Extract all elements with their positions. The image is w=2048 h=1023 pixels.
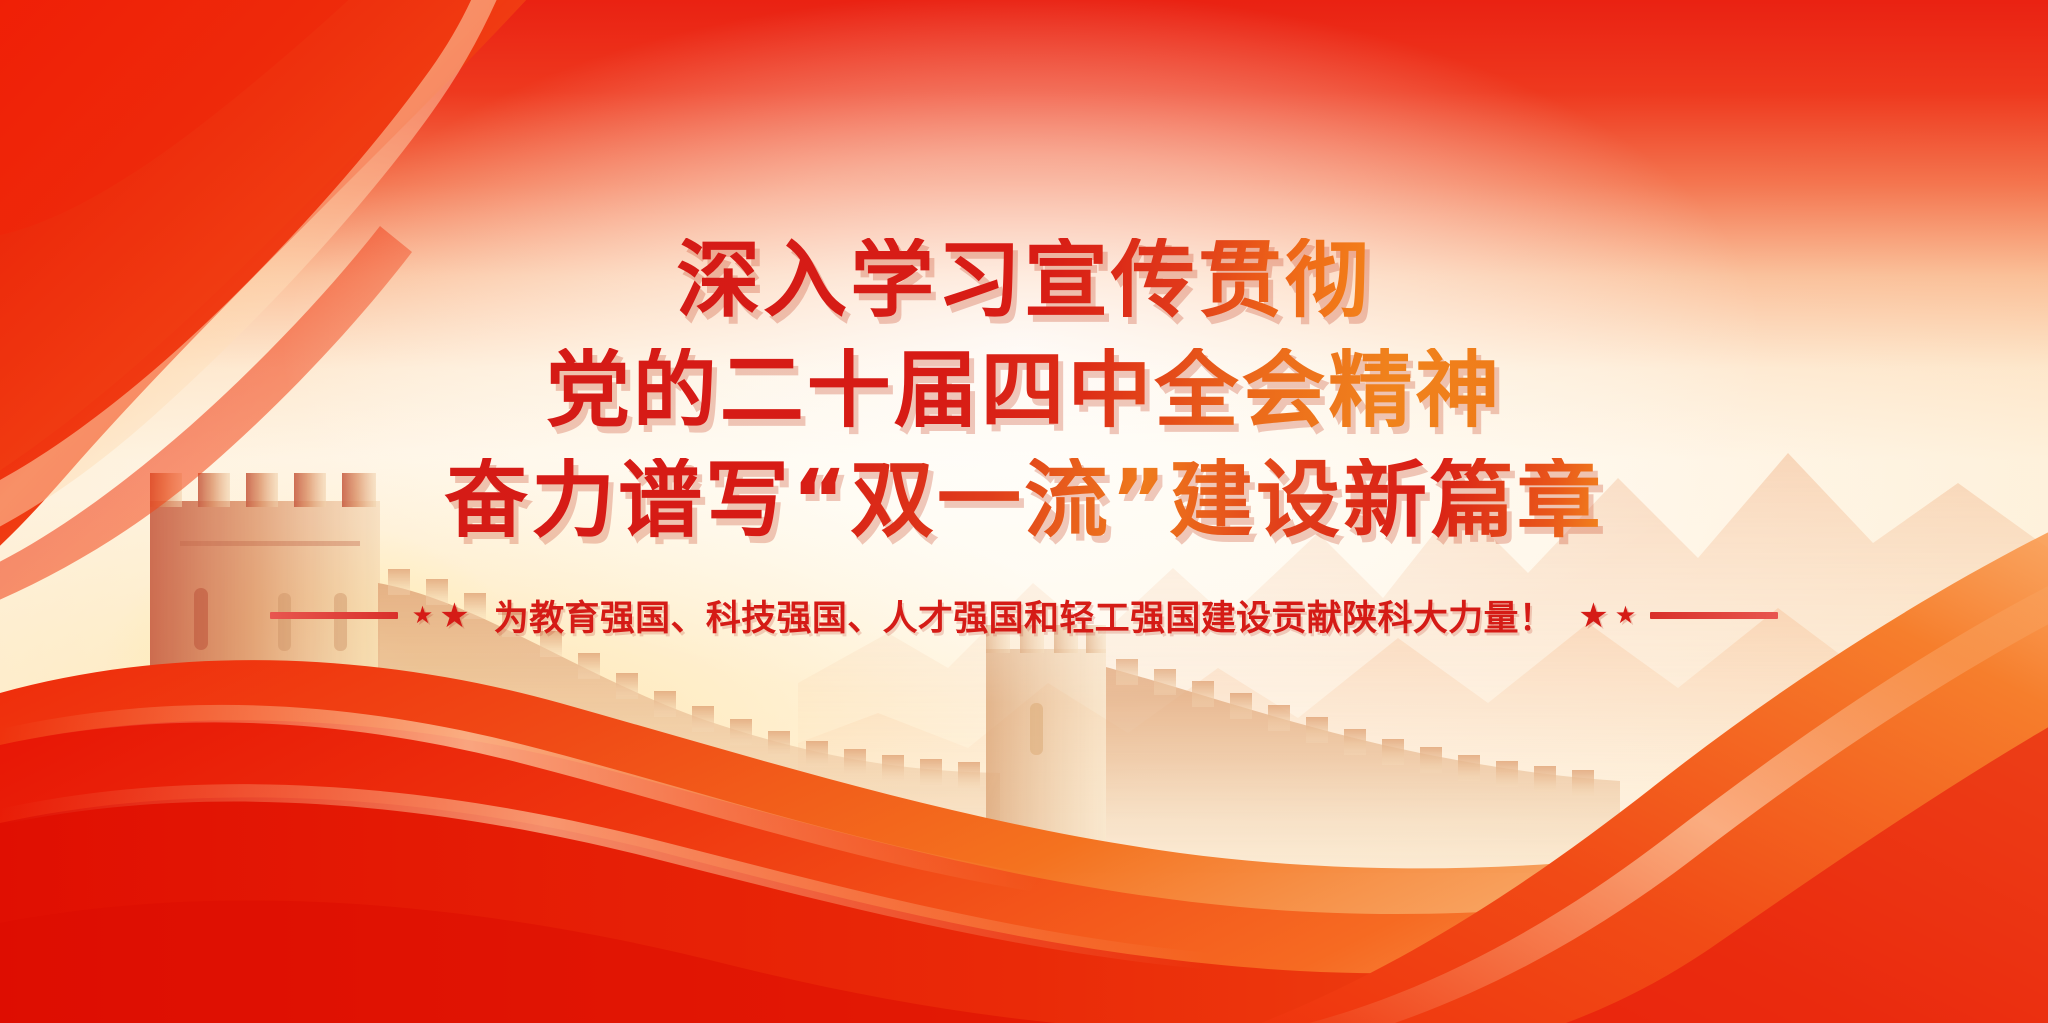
banner-content: 深入学习宣传贯彻 党的二十届四中全会精神 奋力谱写“双一流”建设新篇章 ★ ★ …: [0, 0, 2048, 1023]
left-rule-decoration: [270, 612, 398, 619]
headline-line-2: 党的二十届四中全会精神: [546, 348, 1502, 432]
star-icon: ★: [1578, 599, 1608, 633]
star-icon: ★: [412, 604, 434, 628]
party-propaganda-banner: 深入学习宣传贯彻 党的二十届四中全会精神 奋力谱写“双一流”建设新篇章 ★ ★ …: [0, 0, 2048, 1023]
star-icon: ★: [1615, 604, 1637, 628]
subtitle-row: ★ ★ 为教育强国、科技强国、人才强国和轻工强国建设贡献陕科大力量！ ★ ★: [270, 590, 1779, 641]
left-stars-decoration: ★ ★: [412, 599, 470, 633]
subtitle-text: 为教育强国、科技强国、人才强国和轻工强国建设贡献陕科大力量！: [484, 590, 1565, 641]
star-icon: ★: [439, 599, 469, 633]
headline-line-1: 深入学习宣传贯彻: [676, 238, 1372, 322]
right-rule-decoration: [1650, 612, 1778, 619]
headline-line-3: 奋力谱写“双一流”建设新篇章: [444, 458, 1604, 542]
right-stars-decoration: ★ ★: [1578, 599, 1636, 633]
